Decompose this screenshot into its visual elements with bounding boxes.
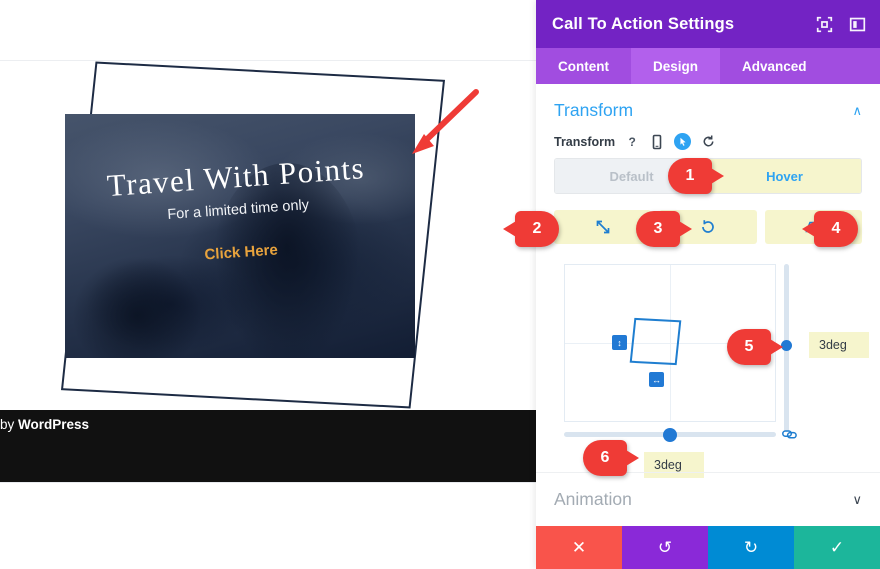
- chevron-down-icon[interactable]: ∨: [852, 492, 862, 508]
- transform-grid-area: ↕ ↔ 3deg 3deg: [554, 262, 862, 462]
- transform-section-title: Transform: [554, 100, 633, 121]
- cancel-button[interactable]: ✕: [536, 526, 622, 569]
- transform-field-label: Transform: [554, 135, 615, 149]
- footer-credit-prefix: by: [0, 417, 18, 432]
- reset-icon[interactable]: [700, 134, 716, 150]
- skew-transform-button[interactable]: [765, 210, 862, 244]
- skew-parallelogram-icon: [804, 218, 822, 236]
- redo-button[interactable]: ↻: [708, 526, 794, 569]
- rotate-transform-button[interactable]: [659, 210, 756, 244]
- transform-mode-buttons: [554, 210, 862, 244]
- vertical-resize-handle[interactable]: ↕: [612, 335, 627, 350]
- tab-content[interactable]: Content: [536, 48, 631, 84]
- chain-link-icon[interactable]: [782, 427, 798, 441]
- tab-advanced[interactable]: Advanced: [720, 48, 829, 84]
- undo-button[interactable]: ↺: [622, 526, 708, 569]
- horizontal-slider-knob[interactable]: [663, 428, 677, 442]
- panel-header: Call To Action Settings: [536, 0, 880, 48]
- horizontal-resize-handle[interactable]: ↔: [649, 372, 664, 387]
- page-preview-canvas: Travel With Points For a limited time on…: [0, 0, 536, 569]
- mobile-icon[interactable]: [649, 134, 665, 150]
- settings-panel: Call To Action Settings Content Design A…: [536, 0, 880, 569]
- scale-transform-button[interactable]: [554, 210, 651, 244]
- annotation-arrow-icon: [404, 86, 482, 158]
- transform-state-toggle: Default Hover: [554, 158, 862, 194]
- save-button[interactable]: ✓: [794, 526, 880, 569]
- animation-section-title: Animation: [554, 489, 632, 510]
- rotate-icon: [699, 218, 717, 236]
- panel-header-icons: [816, 0, 866, 48]
- cta-module-card[interactable]: Travel With Points For a limited time on…: [65, 114, 415, 358]
- tab-design[interactable]: Design: [631, 48, 720, 84]
- cta-text-block: Travel With Points For a limited time on…: [65, 114, 415, 358]
- focus-target-icon[interactable]: [816, 16, 833, 33]
- panel-body: Transform ∧ Transform ?: [536, 84, 880, 526]
- help-icon[interactable]: ?: [624, 134, 640, 150]
- transform-shape-preview[interactable]: [630, 318, 682, 365]
- footer-credit-brand: WordPress: [18, 417, 89, 432]
- state-default-button[interactable]: Default: [555, 159, 708, 193]
- page-below-footer: [0, 482, 536, 569]
- transform-field-label-row: Transform ?: [536, 133, 880, 150]
- hover-pointer-icon[interactable]: [674, 133, 691, 150]
- cta-click-here-link[interactable]: Click Here: [66, 232, 415, 273]
- page-bottom-divider: [0, 482, 536, 483]
- diagonal-arrows-icon: [594, 218, 612, 236]
- animation-section-header[interactable]: Animation ∨: [536, 472, 880, 526]
- screenshot-root: Travel With Points For a limited time on…: [0, 0, 880, 569]
- page-top-divider: [0, 60, 536, 61]
- vertical-value-box[interactable]: 3deg: [809, 332, 869, 358]
- panel-footer: ✕ ↺ ↻ ✓: [536, 526, 880, 569]
- chevron-up-icon[interactable]: ∧: [852, 103, 862, 119]
- vertical-slider-knob[interactable]: [781, 340, 792, 351]
- panel-layout-icon[interactable]: [849, 16, 866, 33]
- footer-credit-text: by WordPress: [0, 417, 250, 432]
- panel-tabs: Content Design Advanced: [536, 48, 880, 84]
- panel-title: Call To Action Settings: [552, 15, 734, 34]
- state-hover-button[interactable]: Hover: [708, 159, 861, 193]
- transform-section-header[interactable]: Transform ∧: [536, 84, 880, 131]
